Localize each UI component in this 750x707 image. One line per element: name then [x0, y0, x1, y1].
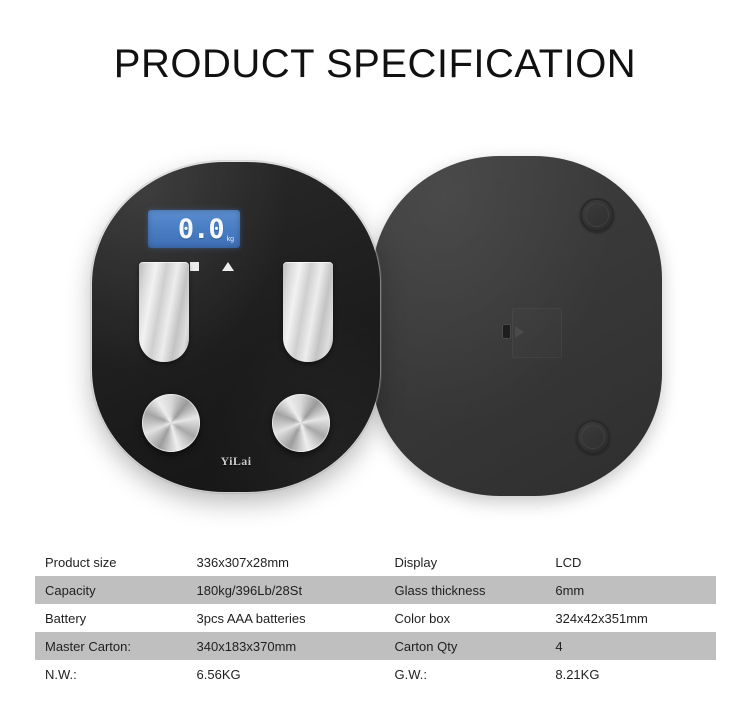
table-row: N.W.: 6.56KG G.W.: 8.21KG: [35, 660, 716, 688]
spec-key: Glass thickness: [384, 576, 545, 604]
spec-value: 3pcs AAA batteries: [187, 604, 385, 632]
electrode-pad-left: [139, 262, 189, 362]
product-image-stage: 0.0 kg YiLai: [0, 140, 750, 520]
table-row: Battery 3pcs AAA batteries Color box 324…: [35, 604, 716, 632]
spec-key: G.W.:: [384, 660, 545, 688]
electrode-pad-right: [283, 262, 333, 362]
spec-key: N.W.:: [35, 660, 187, 688]
spec-value: 6mm: [545, 576, 716, 604]
spec-key: Product size: [35, 548, 187, 576]
spec-value: 6.56KG: [187, 660, 385, 688]
scale-back-view: [372, 156, 662, 496]
scale-front-view: 0.0 kg YiLai: [92, 162, 380, 492]
spec-key: Capacity: [35, 576, 187, 604]
brand-logo: YiLai: [92, 454, 380, 469]
spec-value: 180kg/396Lb/28St: [187, 576, 385, 604]
specification-table: Product size 336x307x28mm Display LCD Ca…: [35, 548, 716, 688]
table-row: Product size 336x307x28mm Display LCD: [35, 548, 716, 576]
spec-key: Carton Qty: [384, 632, 545, 660]
electrode-disc-left: [142, 394, 200, 452]
lcd-weight-reading: 0.0: [178, 216, 224, 243]
spec-value: 324x42x351mm: [545, 604, 716, 632]
spec-key: Display: [384, 548, 545, 576]
rubber-foot-icon-top-right: [580, 198, 614, 232]
spec-key: Master Carton:: [35, 632, 187, 660]
triangle-up-icon: [222, 262, 234, 271]
spec-value: LCD: [545, 548, 716, 576]
spec-key: Color box: [384, 604, 545, 632]
spec-value: 4: [545, 632, 716, 660]
page-title: PRODUCT SPECIFICATION: [0, 42, 750, 87]
lcd-display: 0.0 kg: [148, 210, 240, 248]
lcd-unit-label: kg: [227, 236, 234, 243]
table-row: Capacity 180kg/396Lb/28St Glass thicknes…: [35, 576, 716, 604]
electrode-disc-right: [272, 394, 330, 452]
spec-key: Battery: [35, 604, 187, 632]
table-row: Master Carton: 340x183x370mm Carton Qty …: [35, 632, 716, 660]
square-icon: [190, 262, 199, 271]
battery-latch-arrow-icon: [515, 326, 524, 338]
spec-value: 340x183x370mm: [187, 632, 385, 660]
spec-value: 8.21KG: [545, 660, 716, 688]
spec-value: 336x307x28mm: [187, 548, 385, 576]
rubber-foot-icon-bottom-right: [576, 420, 610, 454]
battery-latch-slide: [502, 324, 511, 339]
